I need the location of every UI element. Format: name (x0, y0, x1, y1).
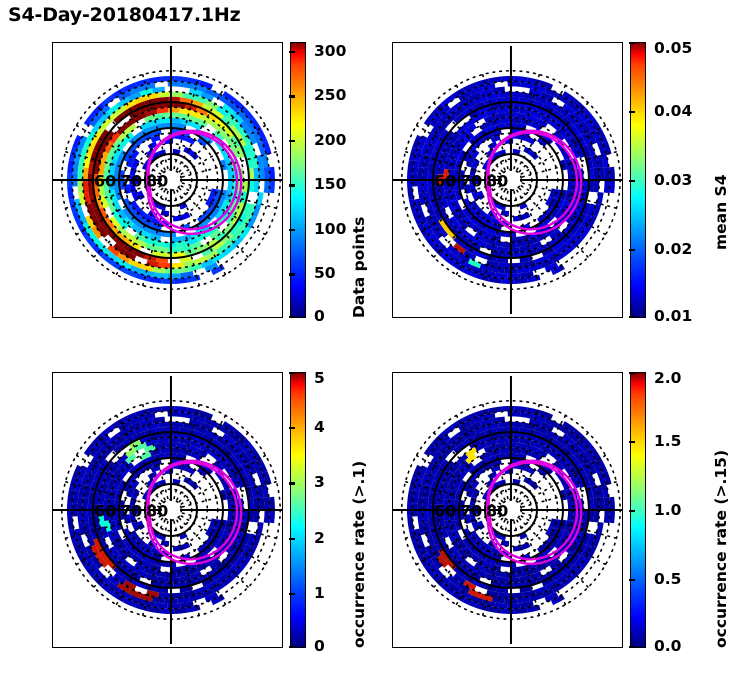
colorbar-tick (629, 372, 635, 374)
sky-cell (168, 437, 180, 443)
sky-cell (227, 180, 233, 191)
elevation-tick-label-80: 80 (486, 172, 508, 191)
sky-cell (508, 81, 521, 87)
colorbar-tick (289, 229, 295, 231)
sky-cell (511, 262, 524, 268)
sky-cell (160, 448, 171, 454)
sky-cell (511, 592, 524, 598)
panel-mean-s4: 607080 (392, 42, 623, 318)
colorbar-tick (289, 646, 295, 648)
colorbar-tick (629, 441, 635, 443)
colorbar-gradient (290, 42, 306, 318)
colorbar-tick-label: 200 (314, 131, 346, 149)
colorbar-tick (629, 646, 635, 648)
colorbar-tick-label: 0.01 (654, 307, 692, 325)
elevation-tick-label-70: 70 (120, 502, 142, 521)
sky-cell (500, 118, 511, 124)
sky-cell (227, 510, 233, 521)
colorbar-title-occurrence-rate-1: occurrence rate (>.1) (350, 461, 368, 648)
sky-cell (171, 592, 184, 598)
colorbar-occurrence-rate-15: 0.00.51.01.52.0 (630, 372, 646, 648)
sky-cell (423, 497, 429, 510)
colorbar-tick (289, 273, 295, 275)
colorbar-tick (289, 184, 295, 186)
colorbar-tick (289, 427, 295, 429)
sky-cell (508, 273, 521, 279)
polar-skyplot: 607080 (392, 372, 623, 648)
colorbar-mean-s4: 0.010.020.030.040.05 (630, 42, 646, 318)
sky-cell (168, 577, 180, 583)
sky-cell (596, 522, 604, 535)
sky-cell (171, 262, 184, 268)
sky-cell (168, 247, 180, 253)
sky-cell (567, 510, 573, 521)
colorbar-gradient (290, 372, 306, 648)
elevation-tick-label-70: 70 (460, 172, 482, 191)
colorbar-tick-label: 50 (314, 264, 336, 282)
sky-cell (256, 522, 264, 535)
panel-data-points: 607080 (52, 42, 283, 318)
colorbar-tick (289, 51, 295, 53)
colorbar-tick-label: 150 (314, 175, 346, 193)
colorbar-tick (289, 140, 295, 142)
colorbar-tick (629, 249, 635, 251)
sky-cell (508, 107, 520, 113)
colorbar-tick (629, 510, 635, 512)
sky-cell (567, 180, 573, 191)
elevation-tick-label-60: 60 (94, 172, 116, 191)
elevation-tick-label-60: 60 (94, 502, 116, 521)
sky-cell (508, 603, 521, 609)
elevation-tick-label-70: 70 (460, 502, 482, 521)
colorbar-tick (629, 111, 635, 113)
colorbar-title-data-points: Data points (350, 217, 368, 318)
sky-cell (508, 247, 520, 253)
colorbar-tick-label: 1 (314, 584, 325, 602)
colorbar-title-occurrence-rate-15: occurrence rate (>.15) (712, 450, 730, 648)
figure-canvas: S4-Day-20180417.1Hz 607080 0501001502002… (0, 0, 731, 674)
colorbar-tick-label: 2.0 (654, 369, 681, 387)
colorbar-tick-label: 0.05 (654, 39, 692, 57)
polar-skyplot: 607080 (52, 42, 283, 318)
colorbar-tick-label: 0.03 (654, 171, 692, 189)
colorbar-tick (629, 180, 635, 182)
sky-cell (168, 81, 181, 87)
sky-cell (168, 603, 181, 609)
colorbar-tick (289, 593, 295, 595)
colorbar-tick-label: 0.04 (654, 102, 692, 120)
sky-cell (500, 448, 511, 454)
colorbar-tick-label: 2 (314, 529, 325, 547)
colorbar-occurrence-rate-1: 012345 (290, 372, 306, 648)
colorbar-tick (289, 482, 295, 484)
polar-skyplot: 607080 (52, 372, 283, 648)
colorbar-tick-label: 3 (314, 473, 325, 491)
colorbar-tick (289, 538, 295, 540)
sky-cell (168, 107, 180, 113)
colorbar-tick (629, 42, 635, 44)
colorbar-title-mean-s4: mean S4 (712, 174, 730, 250)
sky-cell (508, 437, 520, 443)
sky-cell (83, 167, 89, 180)
elevation-tick-label-70: 70 (120, 172, 142, 191)
panel-occurrence-rate-1: 607080 (52, 372, 283, 648)
sky-cell (256, 192, 264, 205)
sky-cell (83, 497, 89, 510)
elevation-tick-label-60: 60 (434, 502, 456, 521)
colorbar-tick (289, 95, 295, 97)
sky-cell (160, 118, 171, 124)
page-title: S4-Day-20180417.1Hz (8, 4, 240, 26)
colorbar-data-points: 050100150200250300 (290, 42, 306, 318)
colorbar-tick-label: 0.02 (654, 240, 692, 258)
elevation-tick-label-60: 60 (434, 172, 456, 191)
sky-cell (508, 577, 520, 583)
sky-cell (168, 273, 181, 279)
elevation-tick-label-80: 80 (146, 172, 168, 191)
panel-occurrence-rate-15: 607080 (392, 372, 623, 648)
polar-skyplot: 607080 (392, 42, 623, 318)
sky-cell (508, 411, 521, 417)
colorbar-tick-label: 1.0 (654, 501, 681, 519)
sky-cell (423, 167, 429, 180)
colorbar-tick-label: 100 (314, 220, 346, 238)
sky-cell (596, 192, 604, 205)
elevation-tick-label-80: 80 (146, 502, 168, 521)
colorbar-tick-label: 5 (314, 369, 325, 387)
colorbar-tick (289, 372, 295, 374)
colorbar-tick (629, 579, 635, 581)
colorbar-tick-label: 0 (314, 307, 325, 325)
colorbar-tick (629, 316, 635, 318)
colorbar-tick-label: 1.5 (654, 432, 681, 450)
colorbar-tick-label: 0 (314, 637, 325, 655)
colorbar-tick-label: 0.0 (654, 637, 681, 655)
colorbar-tick-label: 300 (314, 42, 346, 60)
colorbar-tick-label: 250 (314, 86, 346, 104)
elevation-tick-label-80: 80 (486, 502, 508, 521)
colorbar-tick (289, 316, 295, 318)
colorbar-tick-label: 0.5 (654, 570, 681, 588)
colorbar-tick-label: 4 (314, 418, 325, 436)
sky-cell (168, 411, 181, 417)
